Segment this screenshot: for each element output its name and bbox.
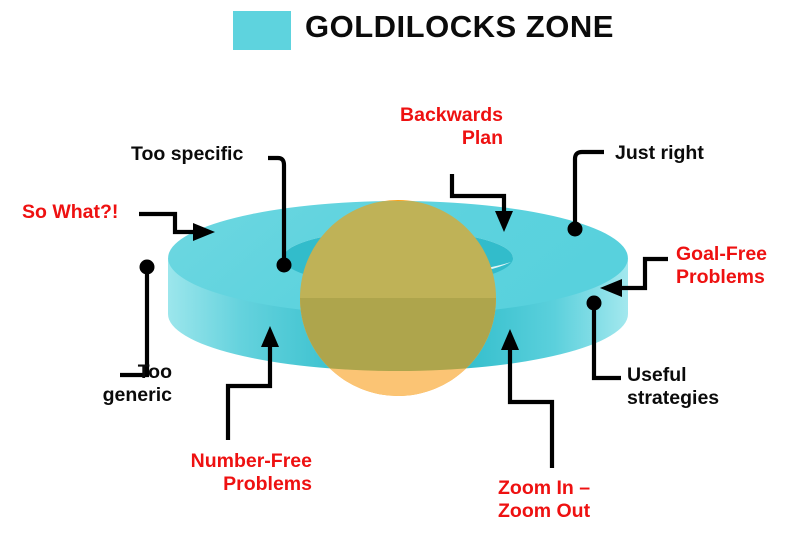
dot-too-generic: [140, 260, 155, 275]
dot-useful-strategies: [587, 296, 602, 311]
leader-too-generic: [120, 270, 147, 375]
label-so-what: So What?!: [22, 201, 172, 224]
leader-just-right: [575, 152, 604, 226]
label-too-generic: Too generic: [62, 361, 172, 407]
label-backwards-plan: Backwards Plan: [353, 104, 503, 150]
sphere-front-lower: [300, 298, 496, 396]
dot-just-right: [568, 222, 583, 237]
label-zoom-in-zoom-out: Zoom In – Zoom Out: [498, 477, 658, 523]
label-goal-free-problems: Goal-Free Problems: [676, 243, 796, 289]
leader-zoom: [510, 345, 552, 468]
label-too-specific: Too specific: [131, 143, 301, 166]
label-just-right: Just right: [615, 142, 755, 165]
diagram-canvas: GOLDILOCKS ZONE: [0, 0, 799, 537]
label-useful-strategies: Useful strategies: [627, 364, 787, 410]
label-number-free-problems: Number-Free Problems: [142, 450, 312, 496]
dot-too-specific: [277, 258, 292, 273]
